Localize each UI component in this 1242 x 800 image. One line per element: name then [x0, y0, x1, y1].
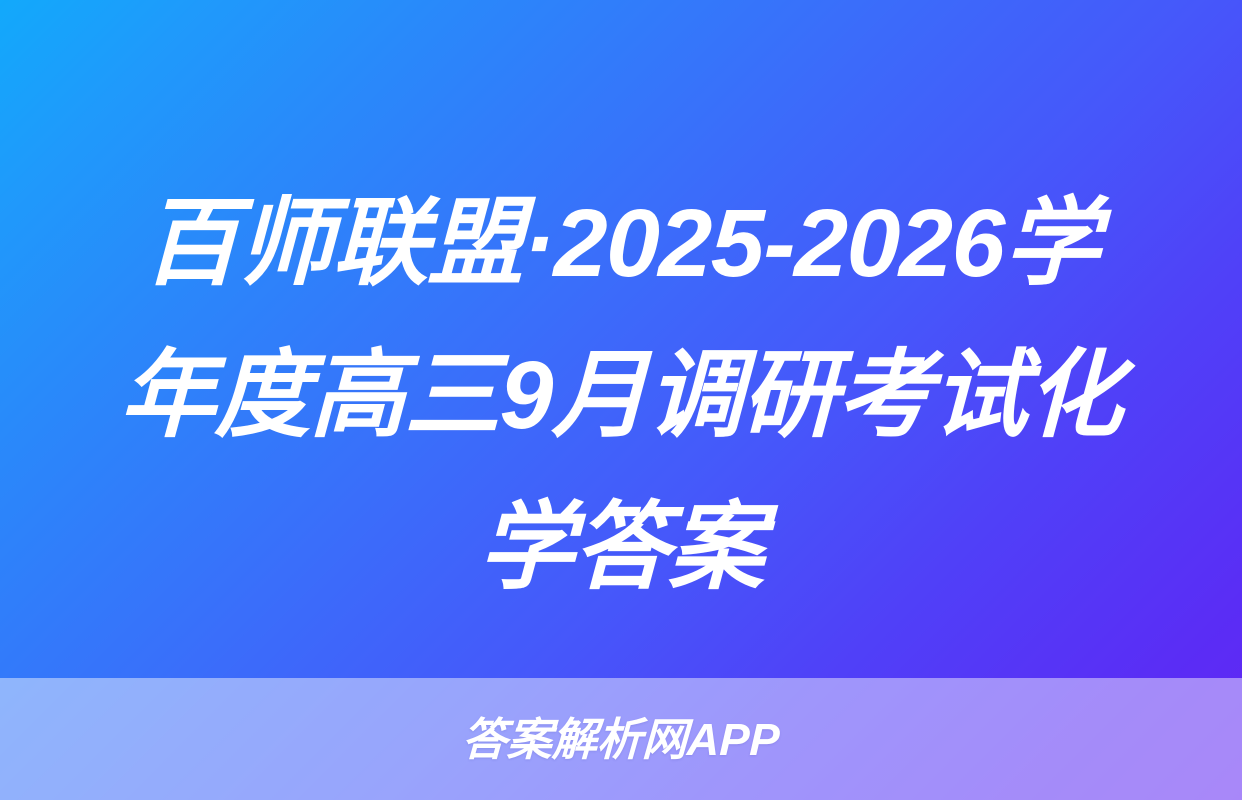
app-watermark-banner: 答案解析网APP — [0, 678, 1242, 800]
title-line-2: 年度高三9月调研考试化 — [81, 320, 1162, 472]
title-line-3: 学答案 — [81, 472, 1162, 624]
title-line-1: 百师联盟·2025-2026学 — [81, 168, 1162, 320]
app-watermark-label: 答案解析网APP — [461, 717, 780, 762]
page-title: 百师联盟·2025-2026学 年度高三9月调研考试化 学答案 — [0, 168, 1242, 624]
share-card: 百师联盟·2025-2026学 年度高三9月调研考试化 学答案 答案解析网APP — [0, 0, 1242, 800]
